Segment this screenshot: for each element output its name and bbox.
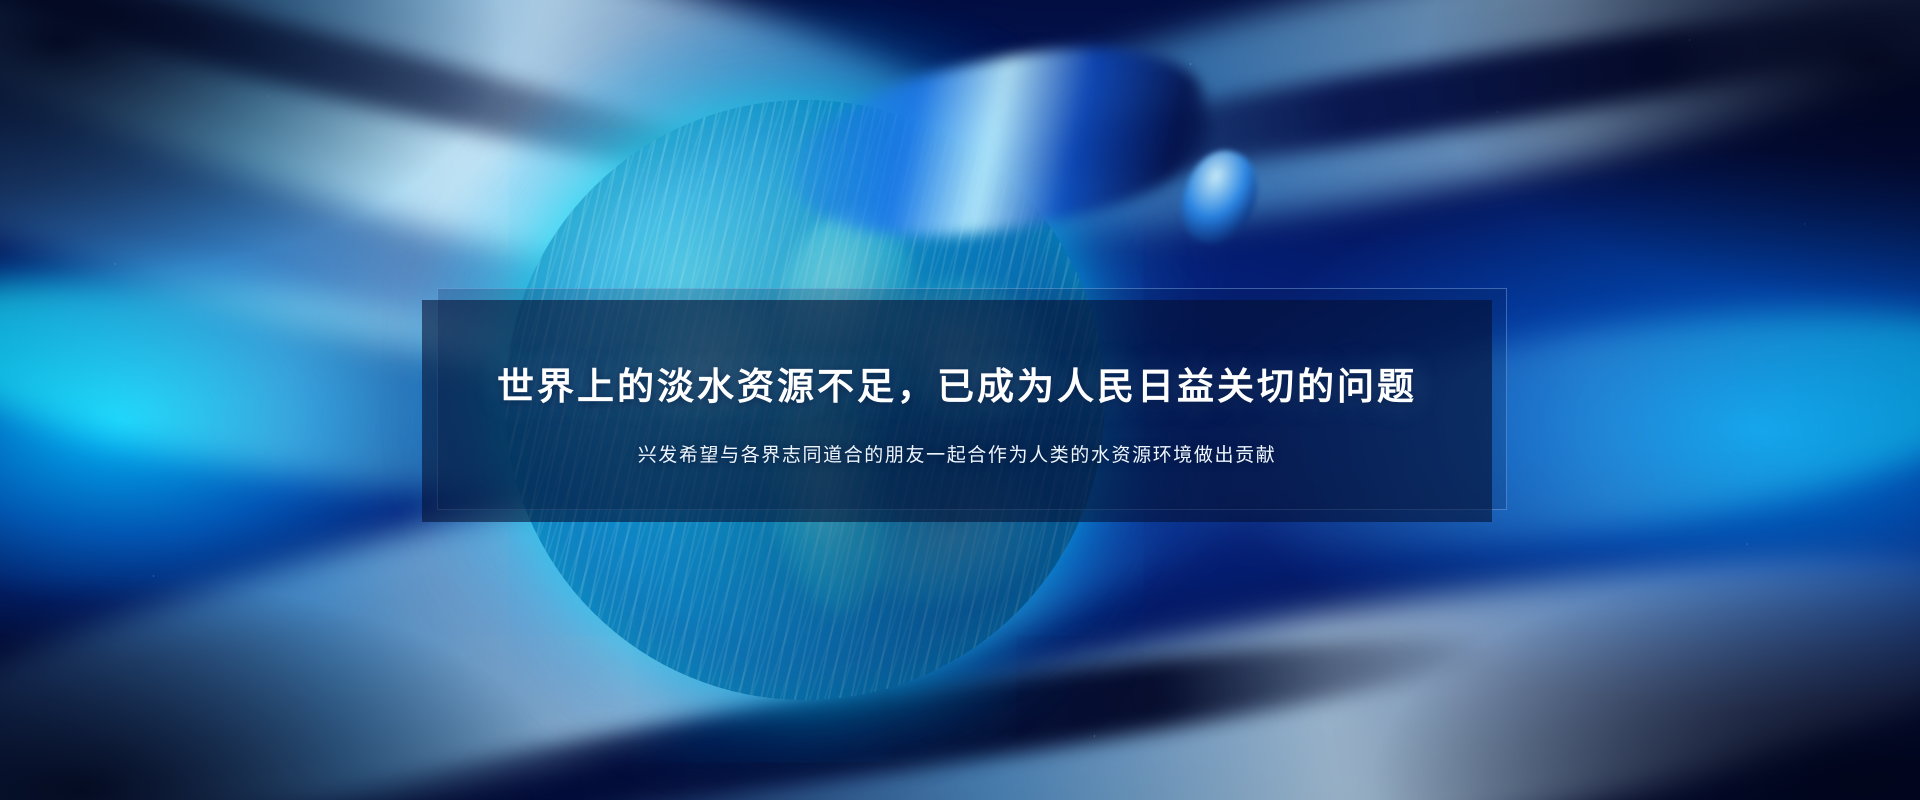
- banner-hero: 世界上的淡水资源不足，已成为人民日益关切的问题 兴发希望与各界志同道合的朋友一起…: [0, 0, 1920, 800]
- page-subtitle: 兴发希望与各界志同道合的朋友一起合作为人类的水资源环境做出贡献: [638, 440, 1277, 467]
- text-panel: 世界上的淡水资源不足，已成为人民日益关切的问题 兴发希望与各界志同道合的朋友一起…: [422, 300, 1492, 522]
- page-title: 世界上的淡水资源不足，已成为人民日益关切的问题: [497, 356, 1417, 410]
